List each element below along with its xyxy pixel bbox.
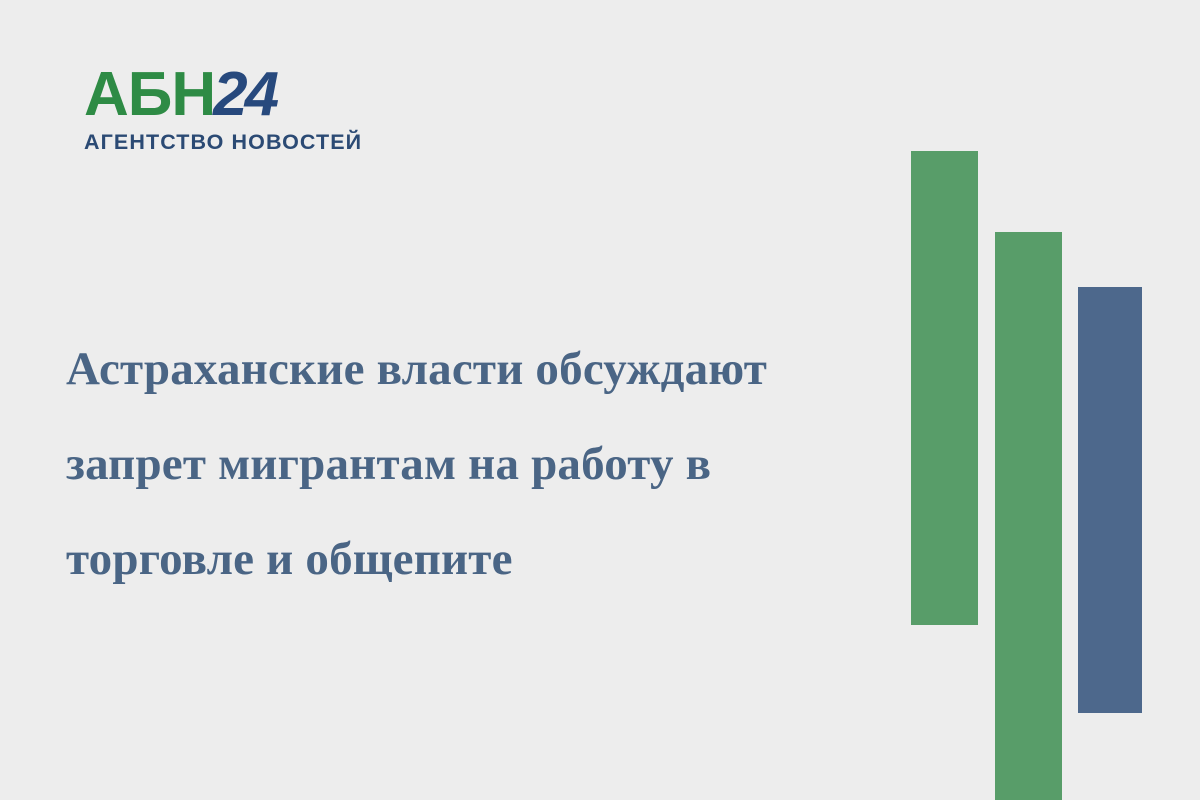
chart-bar-1 — [911, 151, 978, 625]
logo-24-text: 24 — [213, 68, 276, 121]
logo-abn-text: АБН — [84, 68, 215, 121]
logo-wordmark: АБН 24 — [84, 63, 374, 121]
chart-bar-3 — [1078, 287, 1142, 713]
logo-tagline: АГЕНТСТВО НОВОСТЕЙ — [84, 130, 374, 155]
abn24-logo[interactable]: АБН 24 АГЕНТСТВО НОВОСТЕЙ — [84, 63, 374, 155]
page-title: Астраханские власти обсуждают запрет миг… — [66, 322, 866, 607]
chart-bar-2 — [995, 232, 1062, 800]
news-card: АБН 24 АГЕНТСТВО НОВОСТЕЙ Астраханские в… — [0, 0, 1200, 800]
